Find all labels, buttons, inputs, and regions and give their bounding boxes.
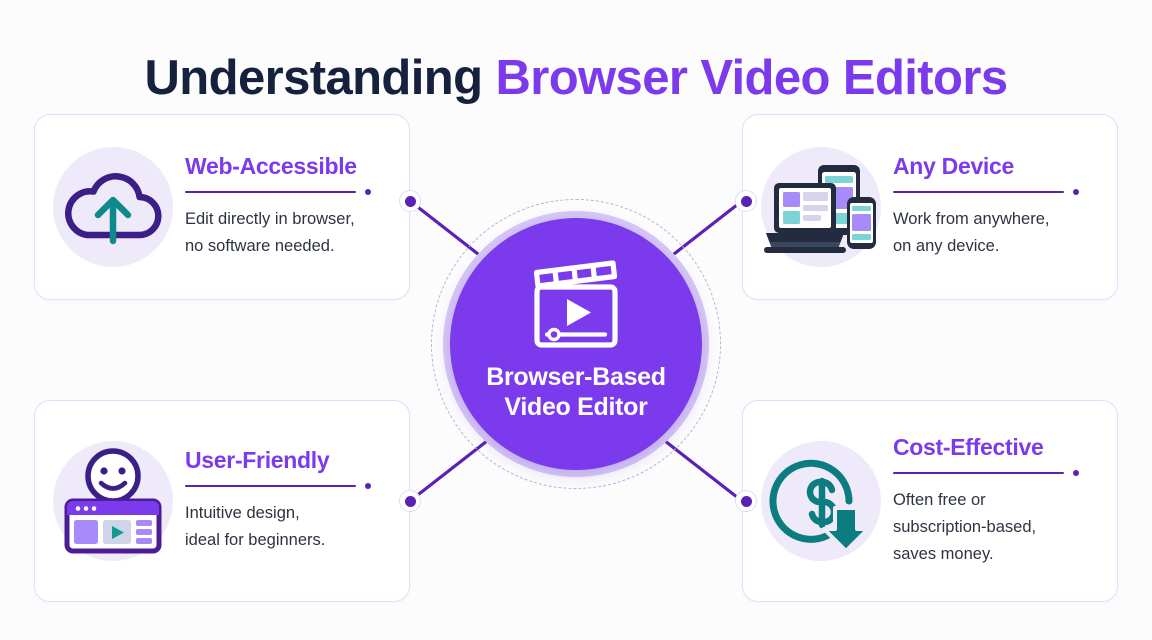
dollar-circle-down-arrow-icon xyxy=(765,445,877,557)
connector-node-user-friendly[interactable] xyxy=(399,490,421,512)
card-heading: Any Device xyxy=(893,154,1101,179)
card-description: Intuitive design, ideal for beginners. xyxy=(185,500,393,553)
card-icon-container xyxy=(755,435,887,567)
connector-line-bottom-left xyxy=(410,441,487,501)
card-text-block: Web-Accessible Edit directly in browser,… xyxy=(179,154,409,260)
card-heading: User-Friendly xyxy=(185,448,393,473)
hub-label: Browser-Based Video Editor xyxy=(486,362,666,422)
page-title: Understanding Browser Video Editors xyxy=(0,50,1152,106)
smiley-browser-editor-icon xyxy=(55,443,171,559)
underline-end-dot xyxy=(1073,470,1079,476)
card-text-block: Any Device Work from anywhere, on any de… xyxy=(887,154,1117,260)
feature-card-web-accessible[interactable]: Web-Accessible Edit directly in browser,… xyxy=(34,114,410,300)
underline-bar xyxy=(185,485,356,487)
underline-end-dot xyxy=(1073,189,1079,195)
underline-bar xyxy=(893,472,1064,474)
card-description: Edit directly in browser, no software ne… xyxy=(185,206,393,259)
video-clapperboard-play-icon xyxy=(518,260,634,354)
connector-node-any-device[interactable] xyxy=(735,190,757,212)
heading-underline xyxy=(893,469,1079,476)
heading-underline xyxy=(185,482,371,489)
card-description-line: Work from anywhere, xyxy=(893,206,1101,233)
page-title-primary: Understanding xyxy=(145,51,483,105)
hub-label-line: Browser-Based xyxy=(486,362,666,392)
card-heading: Cost-Effective xyxy=(893,435,1101,460)
connector-node-cost-effective[interactable] xyxy=(735,490,757,512)
card-heading: Web-Accessible xyxy=(185,154,393,179)
feature-card-any-device[interactable]: Any Device Work from anywhere, on any de… xyxy=(742,114,1118,300)
underline-bar xyxy=(893,191,1064,193)
card-icon-container xyxy=(755,141,887,273)
card-description-line: Intuitive design, xyxy=(185,500,393,527)
card-icon-container xyxy=(47,435,179,567)
card-description-line: on any device. xyxy=(893,233,1101,260)
card-description-line: Edit directly in browser, xyxy=(185,206,393,233)
multi-device-icon xyxy=(762,155,880,259)
underline-end-dot xyxy=(365,483,371,489)
card-description: Work from anywhere, on any device. xyxy=(893,206,1101,259)
card-description-line: Often free or xyxy=(893,487,1101,514)
hub-label-line: Video Editor xyxy=(486,392,666,422)
infographic-canvas: Understanding Browser Video Editors Web-… xyxy=(0,0,1152,640)
feature-card-cost-effective[interactable]: Cost-Effective Often free or subscriptio… xyxy=(742,400,1118,602)
underline-bar xyxy=(185,191,356,193)
card-description-line: ideal for beginners. xyxy=(185,527,393,554)
page-title-accent: Browser Video Editors xyxy=(495,51,1007,105)
card-description-line: saves money. xyxy=(893,541,1101,568)
heading-underline xyxy=(893,188,1079,195)
card-icon-container xyxy=(47,141,179,273)
heading-underline xyxy=(185,188,371,195)
card-description-line: no software needed. xyxy=(185,233,393,260)
hub-center-node[interactable]: Browser-Based Video Editor xyxy=(450,218,702,470)
underline-end-dot xyxy=(365,189,371,195)
connector-line-bottom-right xyxy=(665,441,742,501)
feature-card-user-friendly[interactable]: User-Friendly Intuitive design, ideal fo… xyxy=(34,400,410,602)
card-description: Often free or subscription-based, saves … xyxy=(893,487,1101,567)
card-text-block: User-Friendly Intuitive design, ideal fo… xyxy=(179,448,409,554)
connector-node-web-accessible[interactable] xyxy=(399,190,421,212)
card-text-block: Cost-Effective Often free or subscriptio… xyxy=(887,435,1117,567)
cloud-upload-icon xyxy=(61,163,165,251)
card-description-line: subscription-based, xyxy=(893,514,1101,541)
